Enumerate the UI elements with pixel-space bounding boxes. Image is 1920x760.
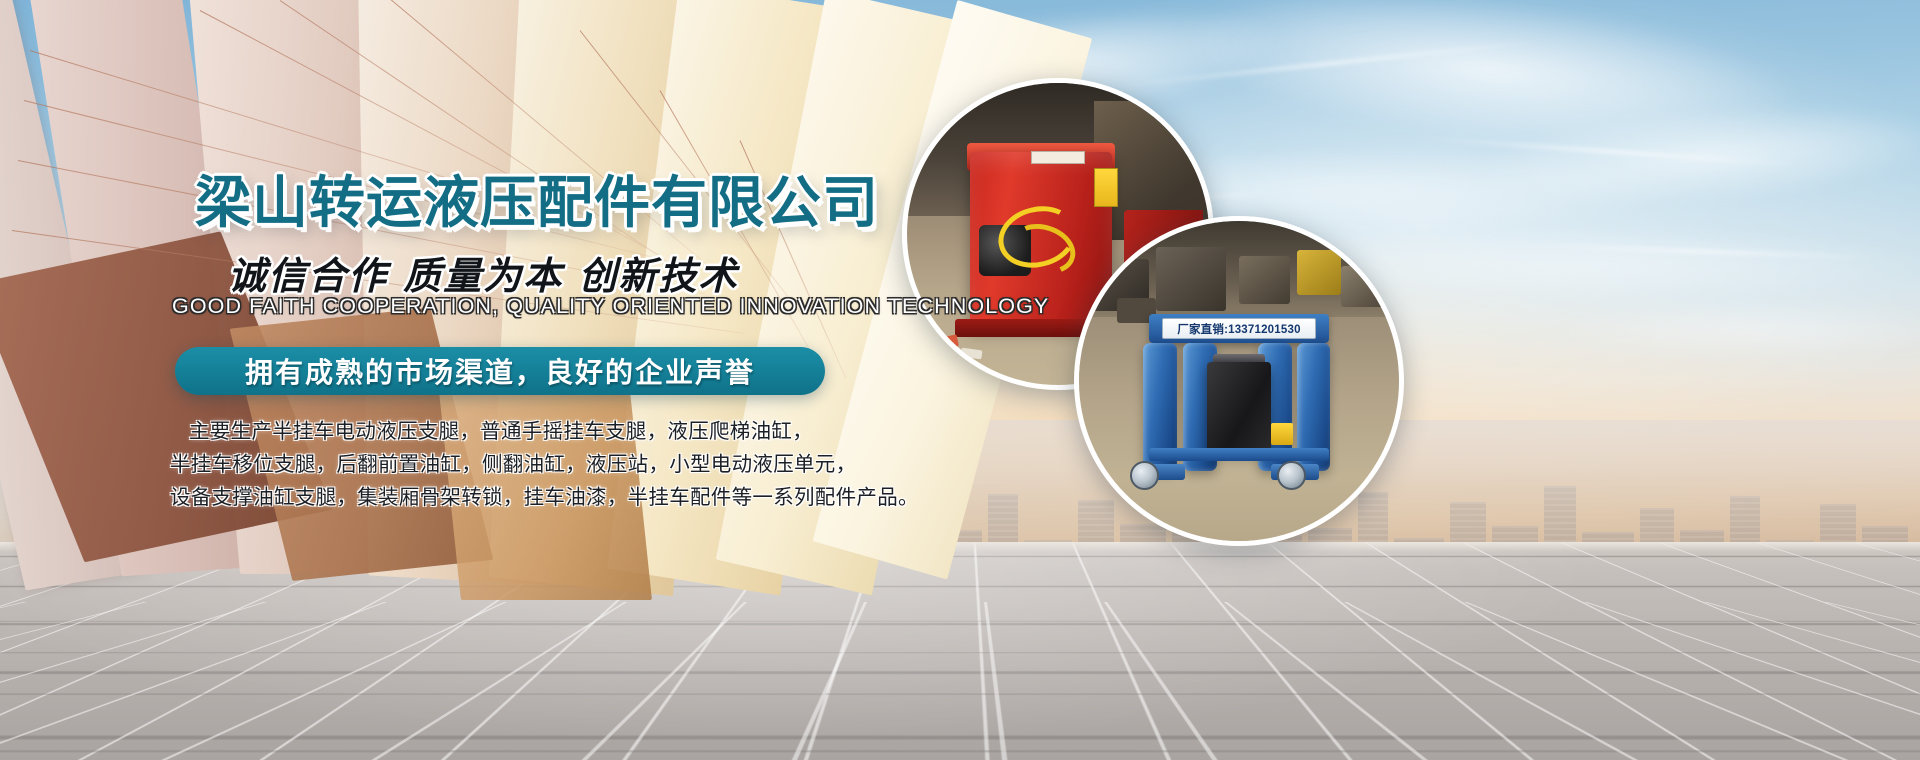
highlight-pill-banner: 拥有成熟的市场渠道，良好的企业声誉 [175, 347, 825, 395]
description-line-1: 主要生产半挂车电动液压支腿，普通手摇挂车支腿，液压爬梯油缸， [170, 415, 832, 448]
highlight-pill-text: 拥有成熟的市场渠道，良好的企业声誉 [245, 351, 755, 391]
slogan-english: GOOD FAITH COOPERATION, QUALITY ORIENTED… [172, 294, 1049, 319]
warning-sticker [1094, 168, 1118, 207]
slogan-chinese: 诚信合作 质量为本 创新技术 [228, 245, 738, 300]
factory-direct-sale-sign: 厂家直销:13371201530 [1162, 318, 1316, 339]
control-box [1271, 423, 1293, 445]
hero-banner: 厂家直销:13371201530 梁山转运液压配件有限公司 诚信合作 质量为本 … [0, 0, 1920, 760]
banner-text-block: 梁山转运液压配件有限公司 诚信合作 质量为本 创新技术 GOOD FAITH C… [0, 0, 1000, 760]
product-description: 主要生产半挂车电动液压支腿，普通手摇挂车支腿，液压爬梯油缸， 半挂车移位支腿，后… [170, 415, 832, 515]
blue-hydraulic-unit-photo[interactable]: 厂家直销:13371201530 [1074, 216, 1404, 546]
description-line-3: 设备支撑油缸支腿，集装厢骨架转锁，挂车油漆，半挂车配件等一系列配件产品。 [170, 481, 832, 514]
caster-wheel-1 [1130, 461, 1159, 490]
caster-wheel-2 [1277, 461, 1306, 490]
cloud-7 [1560, 300, 1920, 360]
company-title: 梁山转运液压配件有限公司 [195, 158, 879, 239]
electric-pump-unit [1207, 362, 1271, 452]
description-line-2: 半挂车移位支腿，后翻前置油缸，侧翻油缸，液压站，小型电动液压单元， [170, 448, 832, 481]
machine-label-plate [1031, 151, 1085, 165]
